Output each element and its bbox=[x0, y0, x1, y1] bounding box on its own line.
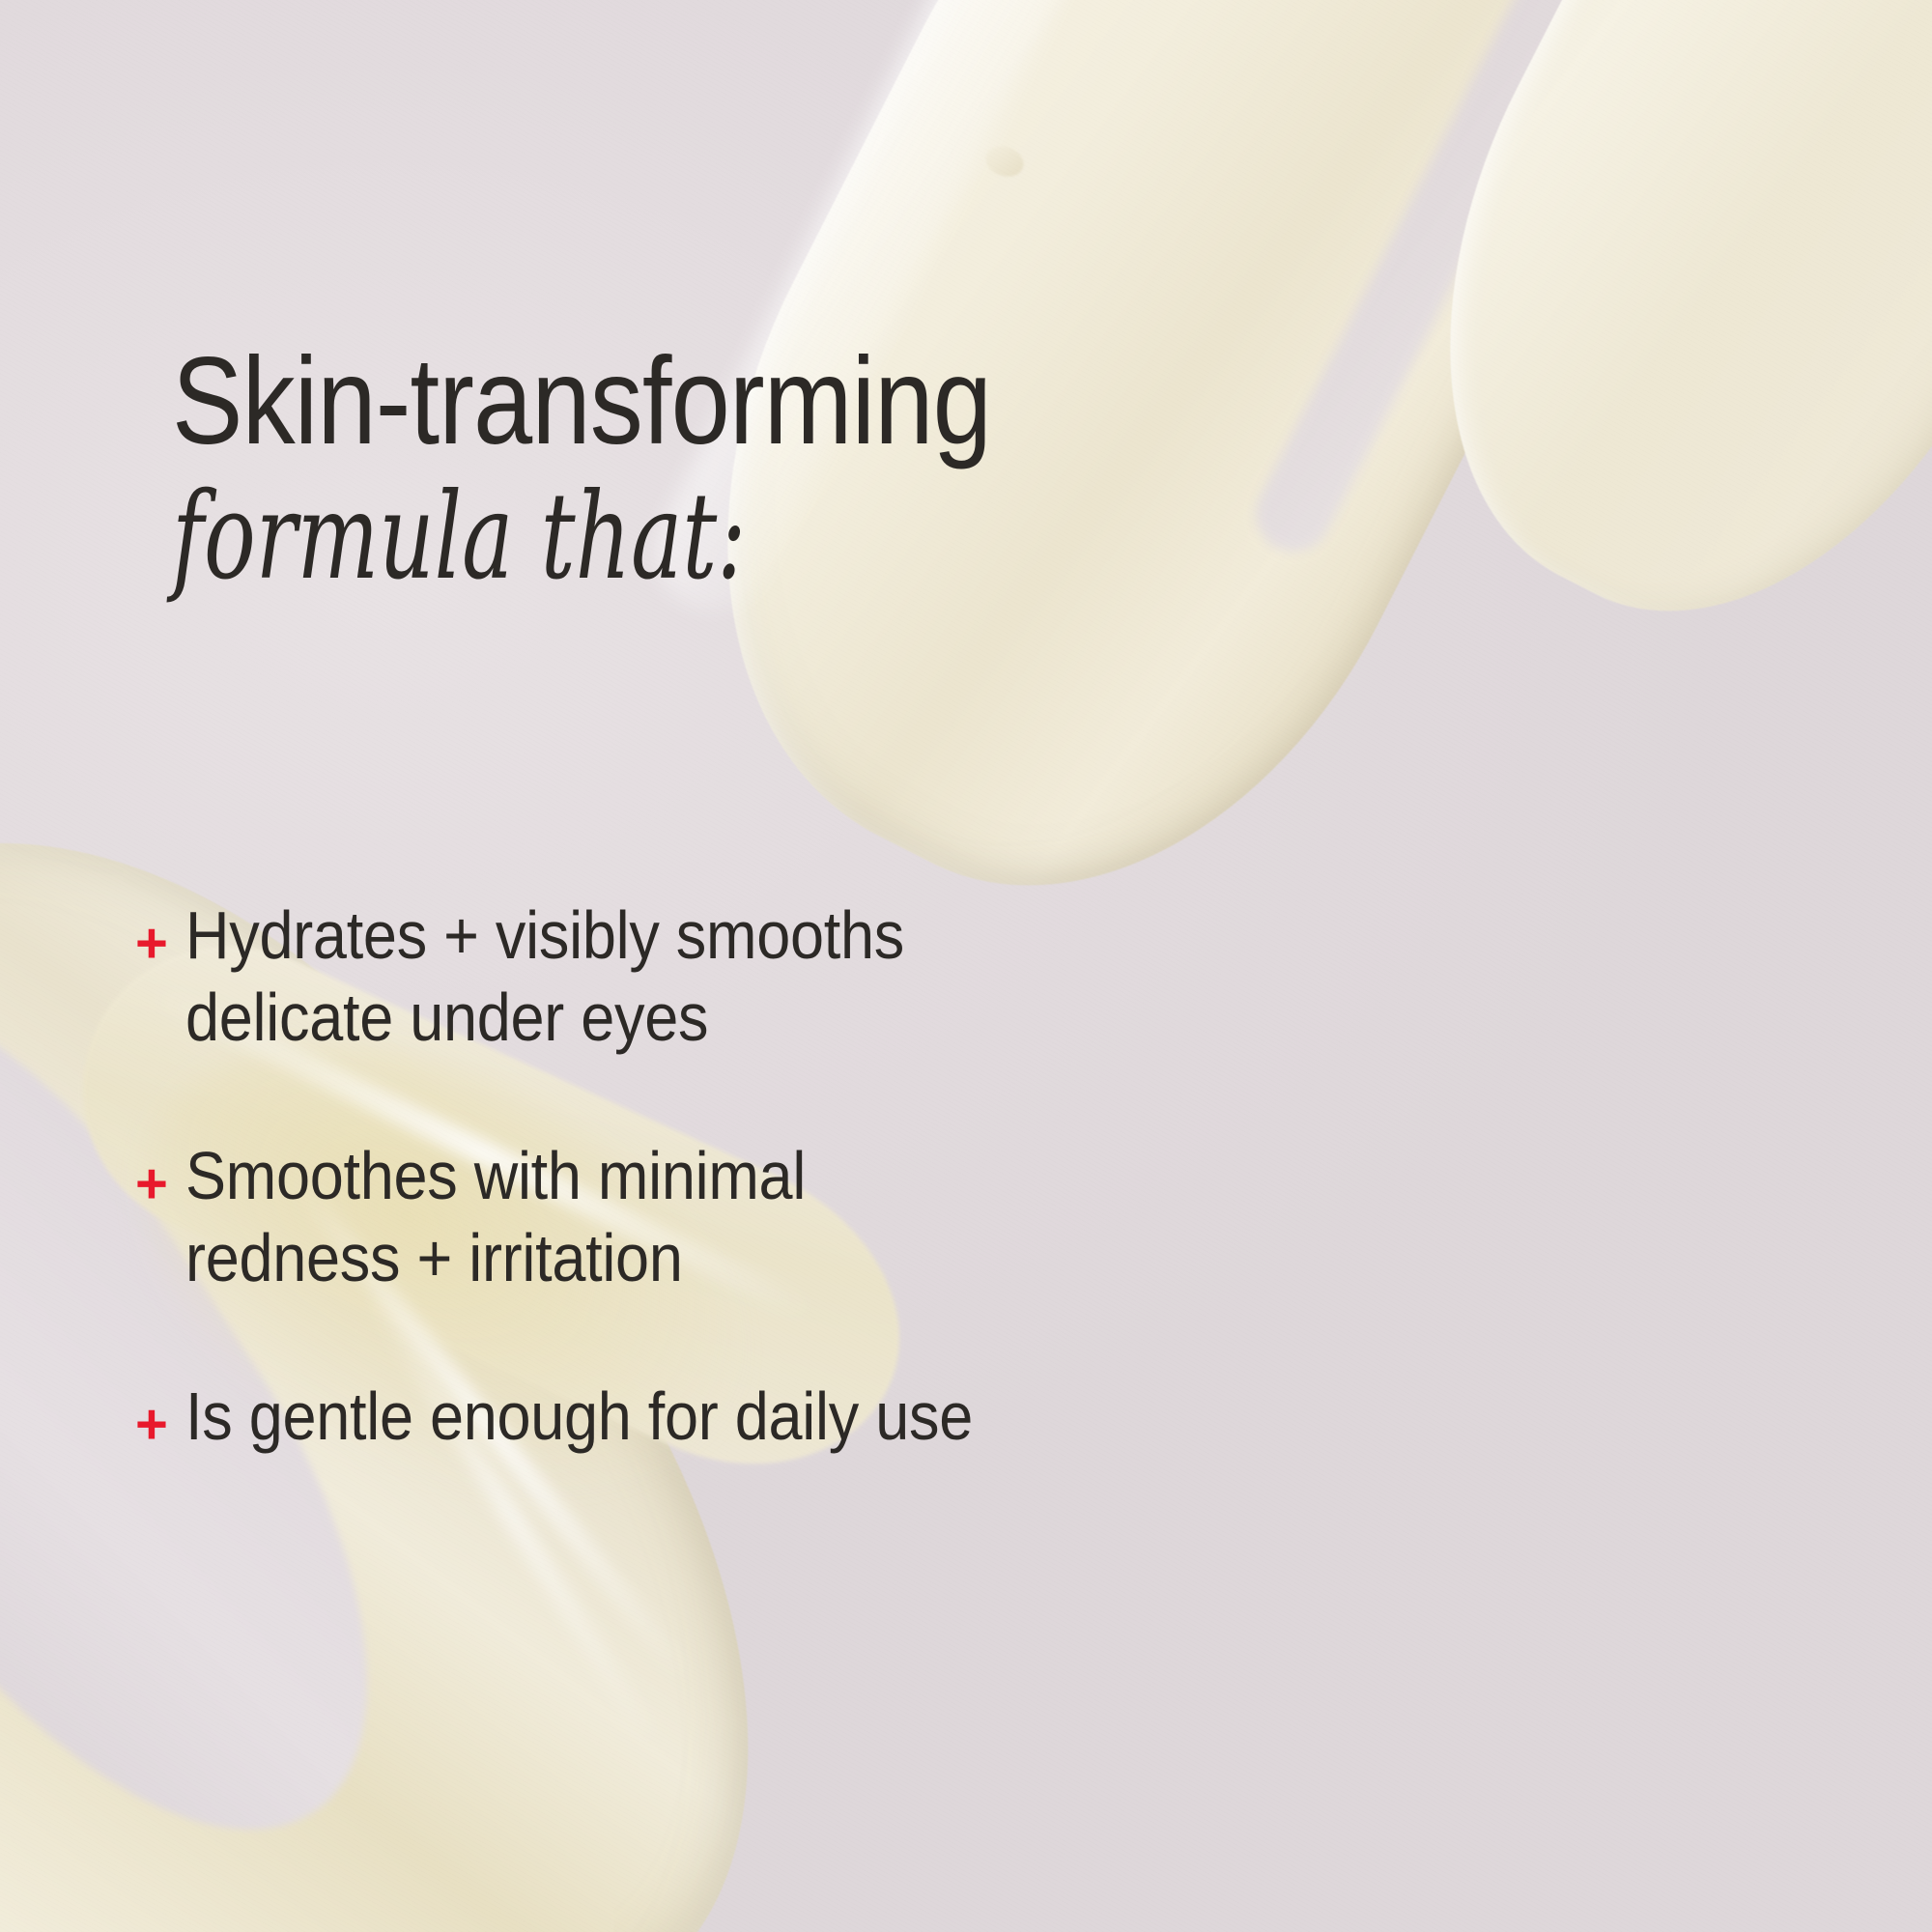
benefit-text: Is gentle enough for daily use bbox=[185, 1376, 973, 1458]
plus-icon: + bbox=[135, 895, 185, 972]
plus-icon: + bbox=[135, 1376, 185, 1453]
headline-line-1: Skin-transforming bbox=[172, 340, 1335, 464]
product-benefits-card: Skin-transforming formula that: + Hydrat… bbox=[0, 0, 1932, 1932]
list-item: + Hydrates + visibly smooths delicate un… bbox=[135, 895, 1294, 1060]
list-item: + Smoothes with minimal redness + irrita… bbox=[135, 1135, 1294, 1300]
page-title: Skin-transforming formula that: bbox=[172, 340, 1524, 597]
content-layer: Skin-transforming formula that: + Hydrat… bbox=[0, 0, 1932, 1932]
benefit-text: Smoothes with minimal redness + irritati… bbox=[185, 1135, 806, 1300]
list-item: + Is gentle enough for daily use bbox=[135, 1376, 1294, 1458]
headline-line-2: formula that: bbox=[172, 477, 1146, 597]
plus-icon: + bbox=[135, 1135, 185, 1212]
benefits-list: + Hydrates + visibly smooths delicate un… bbox=[135, 895, 1294, 1458]
benefit-text: Hydrates + visibly smooths delicate unde… bbox=[185, 895, 904, 1060]
